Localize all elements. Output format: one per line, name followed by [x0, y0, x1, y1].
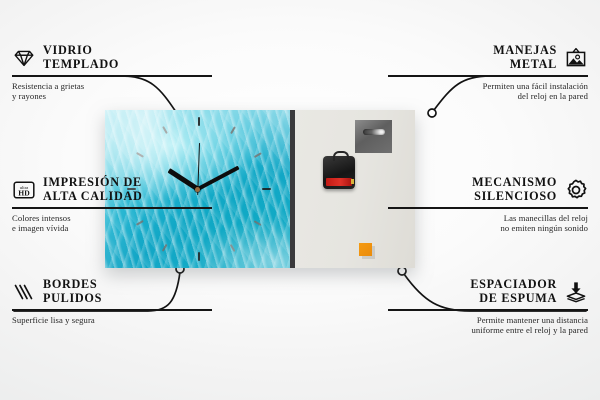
- feature-divider: [388, 75, 588, 77]
- feature-title: VIDRIO TEMPLADO: [43, 44, 119, 71]
- feature-description: Las manecillas del reloj no emiten ningú…: [388, 213, 588, 234]
- connector-dot-foam: [398, 267, 406, 275]
- feature-title: IMPRESIÓN DE ALTA CALIDAD: [43, 176, 143, 203]
- feature-description: Resistencia a grietas y rayones: [12, 81, 212, 102]
- feature-title: BORDES PULIDOS: [43, 278, 102, 305]
- feature-title: ESPACIADOR DE ESPUMA: [470, 278, 557, 305]
- svg-text:HD: HD: [18, 188, 30, 197]
- battery: [326, 178, 352, 186]
- metal-hanger-plate: [355, 120, 392, 153]
- polished-edges-icon: [12, 280, 36, 304]
- feature-divider: [388, 207, 588, 209]
- feature-description: Colores intensos e imagen vívida: [12, 213, 212, 234]
- hanger-slot: [363, 129, 385, 135]
- feature-title: MECANISMO SILENCIOSO: [472, 176, 557, 203]
- feature-divider: [12, 207, 212, 209]
- feature-description: Permiten una fácil instalación del reloj…: [388, 81, 588, 102]
- gear-icon: [564, 178, 588, 202]
- feature-title: MANEJAS METAL: [493, 44, 557, 71]
- feature-divider: [388, 309, 588, 311]
- feature-divider: [12, 309, 212, 311]
- feature-divider: [12, 75, 212, 77]
- feature-description: Superficie lisa y segura: [12, 315, 212, 326]
- feature-hooks: MANEJAS METAL Permiten una fácil instala…: [388, 44, 588, 102]
- feature-glass: VIDRIO TEMPLADO Resistencia a grietas y …: [12, 44, 212, 102]
- foam-spacer-icon: [564, 280, 588, 304]
- movement-hook: [333, 151, 349, 161]
- clock-movement: [323, 156, 355, 189]
- connector-dot-hooks: [428, 109, 436, 117]
- feature-description: Permite mantener una distancia uniforme …: [388, 315, 588, 336]
- feature-print: ultra HD IMPRESIÓN DE ALTA CALIDAD Color…: [12, 176, 212, 234]
- feature-edges: BORDES PULIDOS Superficie lisa y segura: [12, 278, 212, 325]
- infographic-canvas: VIDRIO TEMPLADO Resistencia a grietas y …: [0, 0, 600, 400]
- feature-mechanism: MECANISMO SILENCIOSO Las manecillas del …: [388, 176, 588, 234]
- picture-hanger-icon: [564, 46, 588, 70]
- diamond-icon: [12, 46, 36, 70]
- foam-spacer-pad: [359, 243, 372, 256]
- ultra-hd-icon: ultra HD: [12, 178, 36, 202]
- feature-foam: ESPACIADOR DE ESPUMA Permite mantener un…: [388, 278, 588, 336]
